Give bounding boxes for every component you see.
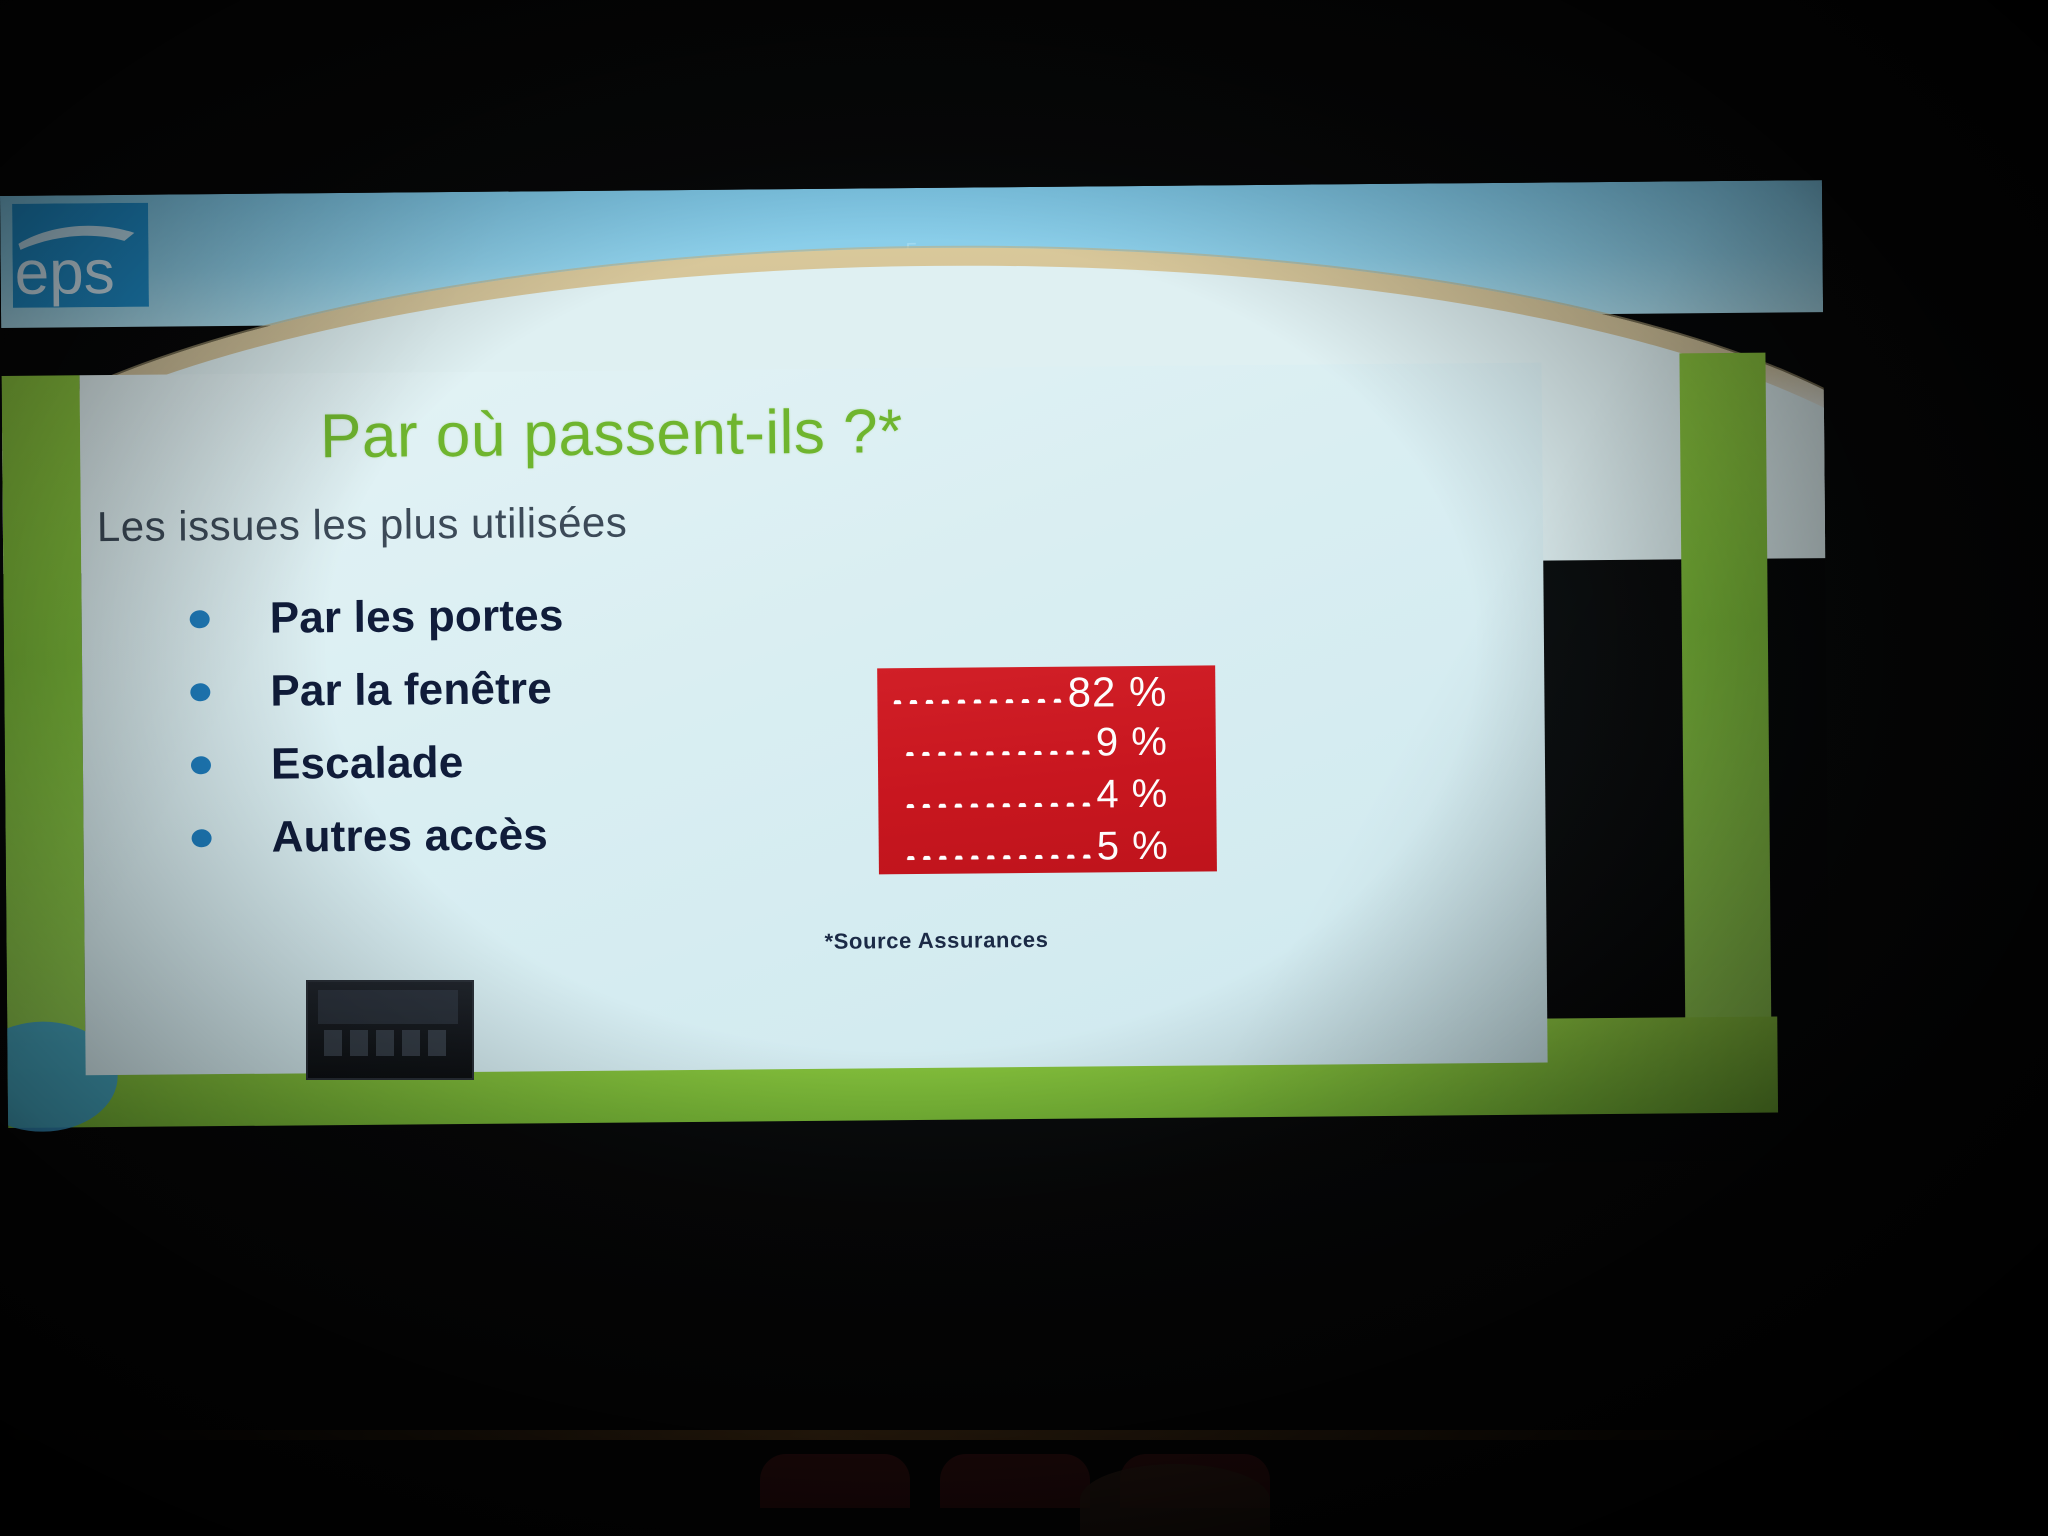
green-band-left <box>2 375 86 1096</box>
list-item: Par les portes <box>189 583 563 652</box>
stat-value: 4 % <box>1096 772 1168 818</box>
slide-content-card: Par où passent-ils ?* Les issues les plu… <box>80 363 1548 1076</box>
bullet-dot-icon <box>190 683 210 701</box>
stat-value: 9 % <box>1096 720 1168 766</box>
stat-row: 9 % <box>878 721 1216 772</box>
dot-leader <box>903 854 1098 860</box>
bullet-dot-icon <box>190 610 210 628</box>
bullet-label: Par les portes <box>269 591 563 644</box>
source-note: *Source Assurances <box>824 927 1048 955</box>
bullet-dot-icon <box>191 756 211 774</box>
device-keypad <box>324 1030 452 1056</box>
bullet-label: Par la fenêtre <box>270 664 552 716</box>
bullet-label: Autres accès <box>271 810 548 862</box>
list-item: Escalade <box>191 729 565 798</box>
projection-photo: 5 eps Par où passent-ils ?* Les issues l… <box>0 0 2048 1536</box>
bullet-label: Escalade <box>271 738 464 790</box>
dot-leader <box>902 750 1097 756</box>
slide-subtitle: Les issues les plus utilisées <box>97 499 628 552</box>
projected-slide: 5 eps Par où passent-ils ?* Les issues l… <box>0 180 1830 1176</box>
lectern-device <box>306 980 474 1080</box>
stat-value: 5 % <box>1097 824 1169 870</box>
list-item: Autres accès <box>191 802 565 871</box>
slide-title: Par où passent-ils ?* <box>320 396 903 472</box>
stat-value: 82 % <box>1067 668 1167 717</box>
stat-row: 4 % <box>878 773 1216 824</box>
bullet-dot-icon <box>192 829 212 847</box>
bullet-list: Par les portes Par la fenêtre Escalade A… <box>189 583 565 878</box>
stat-row: 82 % <box>877 669 1215 720</box>
dot-leader <box>902 802 1097 808</box>
stat-row: 5 % <box>879 825 1217 876</box>
svg-text:eps: eps <box>14 238 115 308</box>
dot-leader <box>889 699 1069 705</box>
audience-silhouette <box>1080 1464 1270 1536</box>
green-band-right <box>1679 353 1771 1034</box>
device-display <box>318 990 458 1024</box>
stage-edge <box>0 1430 2048 1440</box>
list-item: Par la fenêtre <box>190 656 564 725</box>
statistics-box: 82 % 9 % 4 % 5 % <box>877 665 1217 874</box>
eps-logo: eps <box>12 203 149 308</box>
audience-seat <box>940 1454 1090 1508</box>
audience-seat <box>760 1454 910 1508</box>
